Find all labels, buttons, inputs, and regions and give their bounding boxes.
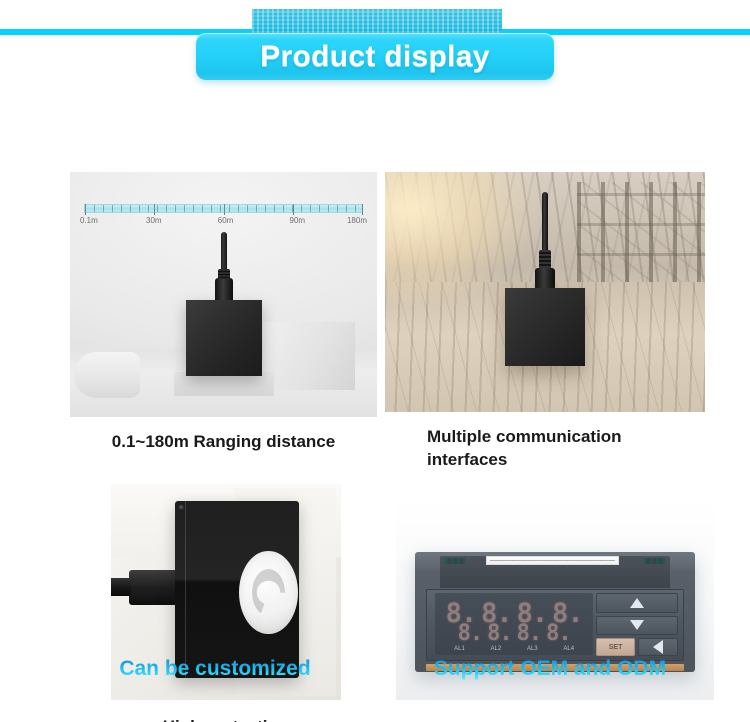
studio-block-prop: [263, 322, 355, 390]
caption-communication-interfaces: Multiple communication interfaces: [385, 426, 705, 472]
sensor-cable: [542, 192, 548, 254]
product-display-page: Product display 0.1m 30m: [0, 0, 750, 722]
studio-cylinder-prop: [74, 352, 140, 398]
alarm-label-al3: AL3: [527, 646, 538, 652]
studio-sensor-photo: 0.1m 30m 60m 90m 180m: [70, 172, 377, 417]
left-button[interactable]: [638, 638, 677, 656]
set-button[interactable]: SET: [596, 638, 635, 656]
footer-right-slogan-wrap: Support OEM and ODM: [390, 657, 710, 681]
sv-readout: 8. 8. 8. 8.: [435, 623, 593, 645]
sensor-body: [505, 288, 585, 366]
page-title: Product display: [260, 40, 490, 74]
alarm-label-al1: AL1: [454, 646, 465, 652]
down-arrow-icon: [630, 620, 644, 630]
product-cell-communication: Multiple communication interfaces: [385, 172, 705, 472]
ruler-label-1: 30m: [146, 216, 162, 225]
controller-vent-right: [644, 558, 665, 564]
ruler-label-2: 60m: [218, 216, 234, 225]
footer-left-slogan: Can be customized: [70, 657, 360, 681]
range-ruler-graphic: [84, 204, 363, 213]
product-cell-high-protection: High protection: [72, 484, 379, 722]
ultrasonic-transducer: [239, 551, 297, 634]
sv-digit: 8.: [487, 623, 512, 645]
header-tab-decoration: [252, 9, 502, 35]
sensor-cable-gland: [535, 268, 555, 290]
controller-body: 8. 8. 8. 8. 8. 8. 8. 8.: [415, 552, 695, 672]
wiring-label-print: [490, 560, 615, 561]
sv-digit: 8.: [546, 623, 571, 645]
caption-line-2: interfaces: [427, 449, 705, 472]
ruler-label-0: 0.1m: [80, 216, 98, 225]
up-arrow-icon: [630, 598, 644, 608]
sensor-body: [186, 300, 262, 376]
sv-digit: 8.: [458, 623, 483, 645]
ruler-major-tick: [154, 204, 155, 215]
warehouse-sensor-photo: [385, 172, 705, 412]
sv-digit: 8.: [517, 623, 542, 645]
housing-seam: [185, 501, 186, 678]
alarm-indicator-row: AL1 AL2 AL3 AL4: [441, 646, 587, 652]
page-header: Product display: [0, 0, 750, 88]
controller-keypad: SET: [596, 593, 678, 656]
caption-line-1: Multiple communication: [427, 426, 705, 449]
caption-ranging-distance: 0.1~180m Ranging distance: [70, 431, 377, 454]
sensor-cable-gland: [215, 278, 233, 302]
ruler-major-tick: [293, 204, 294, 215]
alarm-label-al2: AL2: [491, 646, 502, 652]
warehouse-sun-glare: [385, 172, 539, 306]
housing-screw: [179, 505, 184, 510]
caption-high-protection: High protection: [72, 716, 379, 722]
sensor-housing: [175, 501, 299, 678]
ruler-label-3: 90m: [290, 216, 306, 225]
ruler-major-tick: [362, 204, 363, 215]
sensor-strain-relief: [539, 250, 551, 270]
bottom-key-row: SET: [596, 638, 678, 656]
product-cell-ranging-distance: 0.1m 30m 60m 90m 180m 0.1~180m Ranging d…: [70, 172, 377, 454]
controller-top-shell: [440, 556, 669, 588]
ruler-major-tick: [224, 204, 225, 215]
controller-vent-left: [445, 558, 466, 564]
left-arrow-icon: [653, 640, 663, 654]
ruler-scale-labels: 0.1m 30m 60m 90m 180m: [80, 216, 367, 230]
sensor-connector: [129, 570, 180, 605]
controller-wiring-label: [486, 556, 619, 565]
header-title-banner: Product display: [196, 33, 554, 80]
alarm-label-al4: AL4: [563, 646, 574, 652]
down-button[interactable]: [596, 616, 678, 636]
ruler-label-4: 180m: [347, 216, 367, 225]
controller-front-face: 8. 8. 8. 8. 8. 8. 8. 8.: [426, 589, 683, 661]
controller-display-screen: 8. 8. 8. 8. 8. 8. 8. 8.: [435, 593, 593, 655]
footer-right-slogan: Support OEM and ODM: [390, 657, 710, 681]
footer-left-slogan-wrap: Can be customized: [70, 657, 360, 681]
up-button[interactable]: [596, 593, 678, 613]
ruler-major-tick: [85, 204, 86, 215]
